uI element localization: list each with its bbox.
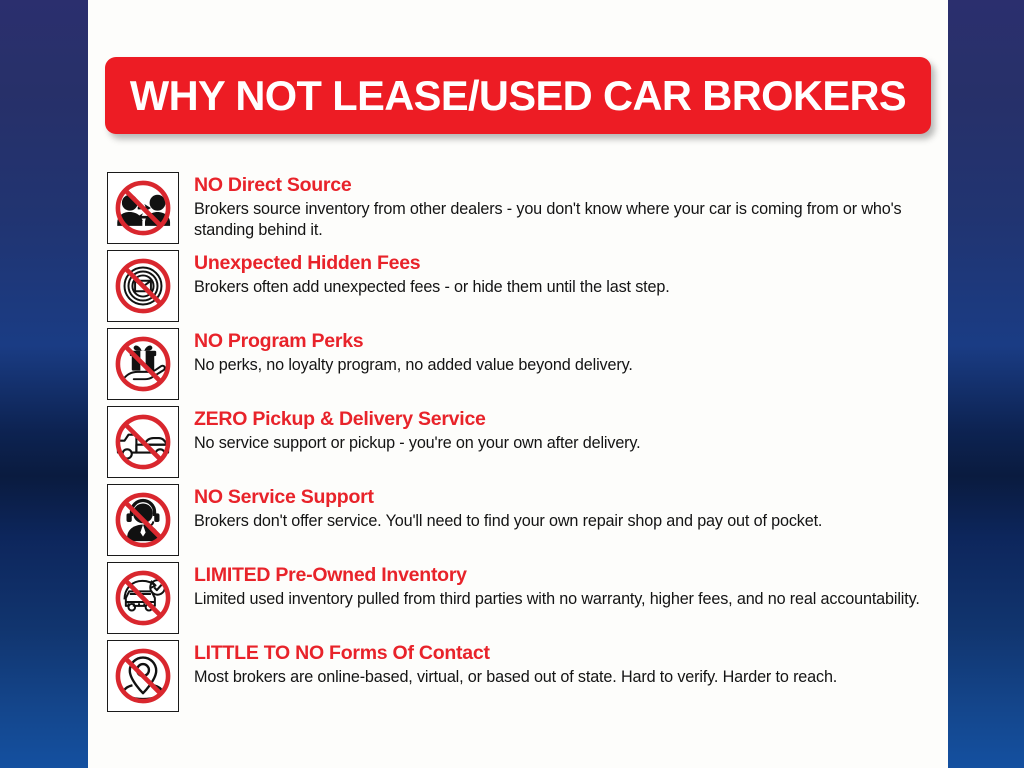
list-item: Unexpected Hidden Fees Brokers often add… [107, 250, 937, 328]
no-tow-truck-icon [110, 409, 176, 475]
icon-box [107, 406, 179, 478]
item-text: ZERO Pickup & Delivery Service No servic… [179, 406, 937, 454]
item-title: LIMITED Pre-Owned Inventory [194, 565, 937, 587]
icon-box [107, 640, 179, 712]
list-item: NO Direct Source Brokers source inventor… [107, 172, 937, 250]
icon-box [107, 250, 179, 322]
list-item: ZERO Pickup & Delivery Service No servic… [107, 406, 937, 484]
item-title: NO Service Support [194, 487, 937, 509]
item-text: Unexpected Hidden Fees Brokers often add… [179, 250, 937, 298]
item-description: Limited used inventory pulled from third… [194, 589, 937, 610]
item-text: NO Program Perks No perks, no loyalty pr… [179, 328, 937, 376]
item-description: Brokers don't offer service. You'll need… [194, 511, 937, 532]
title-banner: WHY NOT LEASE/USED CAR BROKERS [105, 57, 931, 134]
icon-box [107, 328, 179, 400]
no-two-people-exchange-icon [110, 175, 176, 241]
list-item: LIMITED Pre-Owned Inventory Limited used… [107, 562, 937, 640]
no-headset-agent-icon [110, 487, 176, 553]
item-text: NO Direct Source Brokers source inventor… [179, 172, 937, 242]
item-description: Brokers often add unexpected fees - or h… [194, 277, 937, 298]
item-title: LITTLE TO NO Forms Of Contact [194, 643, 937, 665]
item-title: NO Program Perks [194, 331, 937, 353]
item-description: No service support or pickup - you're on… [194, 433, 937, 454]
item-title: ZERO Pickup & Delivery Service [194, 409, 937, 431]
list-item: NO Program Perks No perks, no loyalty pr… [107, 328, 937, 406]
item-description: Most brokers are online-based, virtual, … [194, 667, 937, 688]
item-title: Unexpected Hidden Fees [194, 253, 937, 275]
item-text: NO Service Support Brokers don't offer s… [179, 484, 937, 532]
list-item: LITTLE TO NO Forms Of Contact Most broke… [107, 640, 937, 718]
list-item: NO Service Support Brokers don't offer s… [107, 484, 937, 562]
no-gift-in-hand-icon [110, 331, 176, 397]
no-location-pin-icon [110, 643, 176, 709]
poster-page: WHY NOT LEASE/USED CAR BROKERS [0, 0, 1024, 768]
reasons-list: NO Direct Source Brokers source inventor… [107, 172, 937, 718]
item-text: LITTLE TO NO Forms Of Contact Most broke… [179, 640, 937, 688]
no-hidden-fees-coin-icon [110, 253, 176, 319]
icon-box [107, 172, 179, 244]
item-text: LIMITED Pre-Owned Inventory Limited used… [179, 562, 937, 610]
icon-box [107, 484, 179, 556]
item-description: Brokers source inventory from other deal… [194, 199, 937, 242]
white-content-card: WHY NOT LEASE/USED CAR BROKERS [88, 0, 948, 768]
item-description: No perks, no loyalty program, no added v… [194, 355, 937, 376]
item-title: NO Direct Source [194, 175, 937, 197]
no-certified-car-icon [110, 565, 176, 631]
page-title: WHY NOT LEASE/USED CAR BROKERS [130, 72, 906, 120]
icon-box [107, 562, 179, 634]
